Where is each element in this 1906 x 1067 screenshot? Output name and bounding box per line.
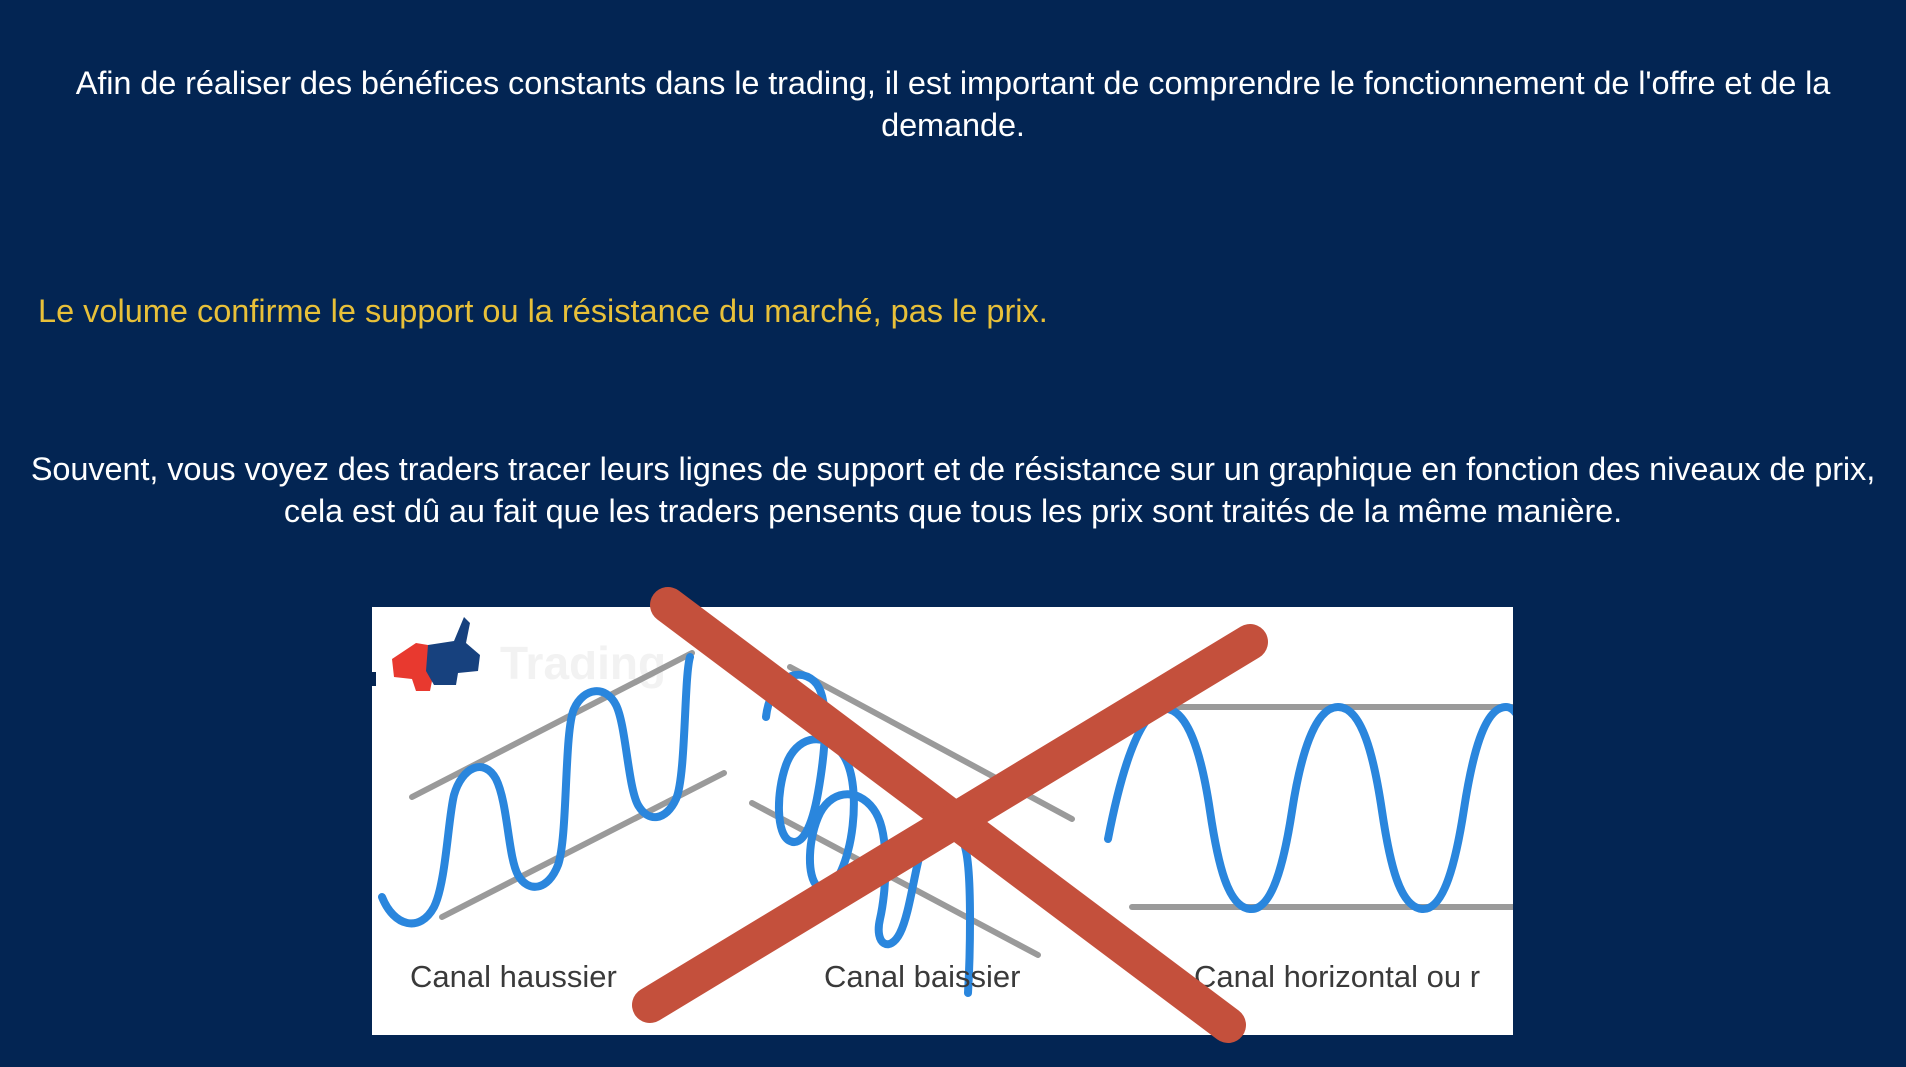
bull-bear-logo (392, 617, 480, 691)
channel-figure-panel: Trading (372, 607, 1513, 1035)
explanation-paragraph: Souvent, vous voyez des traders tracer l… (28, 448, 1878, 533)
slide-canvas: Afin de réaliser des bénéfices constants… (0, 0, 1906, 1067)
chart-falling-channel (752, 667, 1072, 993)
glitch-artifact-left (372, 672, 376, 686)
glitch-artifact-top (586, 629, 598, 651)
chart-horizontal-channel (1108, 707, 1513, 909)
chart-rising-channel (382, 653, 724, 923)
channel-figure-svg: Trading (372, 607, 1513, 1035)
caption-horizontal-channel: Canal horizontal ou r (1194, 959, 1480, 994)
intro-paragraph: Afin de réaliser des bénéfices constants… (28, 62, 1878, 147)
caption-falling-channel: Canal baissier (824, 959, 1020, 994)
bull-shape (426, 617, 480, 685)
highlight-statement: Le volume confirme le support ou la rési… (38, 290, 1538, 332)
caption-rising-channel: Canal haussier (410, 959, 617, 994)
